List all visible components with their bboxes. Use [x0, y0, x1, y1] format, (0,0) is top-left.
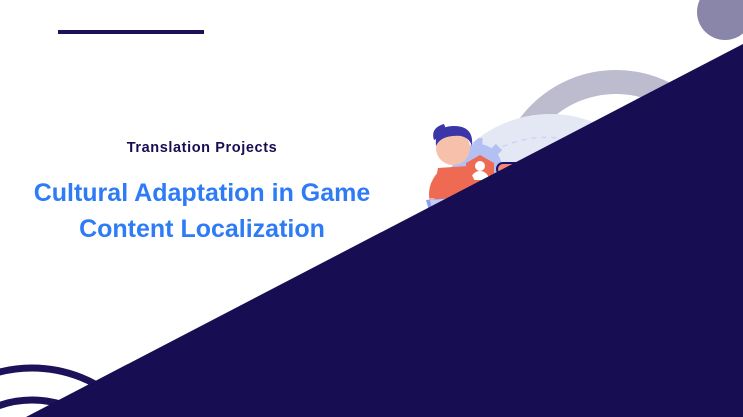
- hexagon-slot-icon: [620, 212, 644, 236]
- progress-bar: [496, 162, 604, 176]
- small-moon-icon: [624, 138, 644, 158]
- game-localization-illustration: [400, 100, 700, 370]
- slide-canvas: Translation Projects Cultural Adaptation…: [0, 0, 743, 417]
- moon-gauge-icon: [619, 243, 649, 273]
- arc-outer: [0, 368, 164, 417]
- purple-dot-decoration: [697, 0, 743, 40]
- text-block: Translation Projects Cultural Adaptation…: [22, 140, 382, 247]
- headline-line-2: Content Localization: [22, 212, 382, 248]
- corner-arcs-decoration: [0, 300, 172, 417]
- ammo-dots: [600, 296, 658, 314]
- arc-middle: [0, 400, 132, 417]
- page-title: Cultural Adaptation in Game Content Loca…: [22, 176, 382, 247]
- headline-line-1: Cultural Adaptation in Game: [22, 176, 382, 212]
- hexagon-slot-icon: [564, 212, 588, 236]
- hexagon-slot-icon: [592, 212, 616, 236]
- top-rule-divider: [58, 30, 204, 34]
- eyebrow-label: Translation Projects: [22, 140, 382, 156]
